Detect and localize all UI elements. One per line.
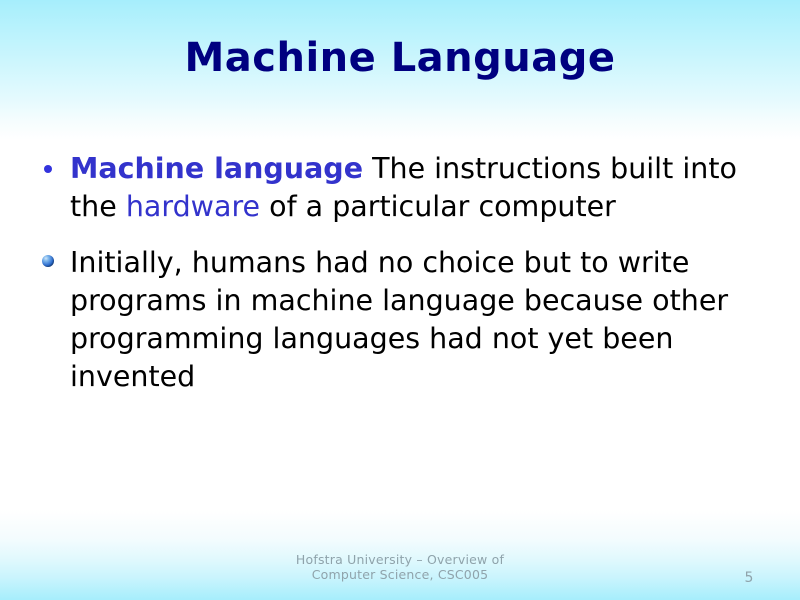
text-run-0: Machine language: [70, 152, 363, 185]
slide-body: Machine language The instructions built …: [0, 150, 800, 414]
footer-line-1: Hofstra University – Overview of: [0, 552, 800, 567]
list-item: Initially, humans had no choice but to w…: [0, 244, 800, 396]
list-item: Machine language The instructions built …: [0, 150, 800, 226]
footer-line-2: Computer Science, CSC005: [0, 567, 800, 582]
presentation-slide: Machine Language Machine language The in…: [0, 0, 800, 600]
title-area: Machine Language: [0, 34, 800, 82]
bullet-text-1: Machine language The instructions built …: [70, 150, 762, 226]
blue-sphere-bullet-icon: [42, 255, 54, 267]
page-title: Machine Language: [184, 34, 615, 82]
bullet-text-2: Initially, humans had no choice but to w…: [70, 244, 762, 396]
blue-dot-bullet-icon: [44, 165, 52, 173]
text-run-3: of a particular computer: [260, 190, 616, 223]
text-run-0: Initially, humans had no choice but to w…: [70, 246, 728, 393]
page-number: 5: [735, 570, 763, 586]
text-run-2: hardware: [126, 190, 260, 223]
slide-footer: Hofstra University – Overview of Compute…: [0, 552, 800, 582]
